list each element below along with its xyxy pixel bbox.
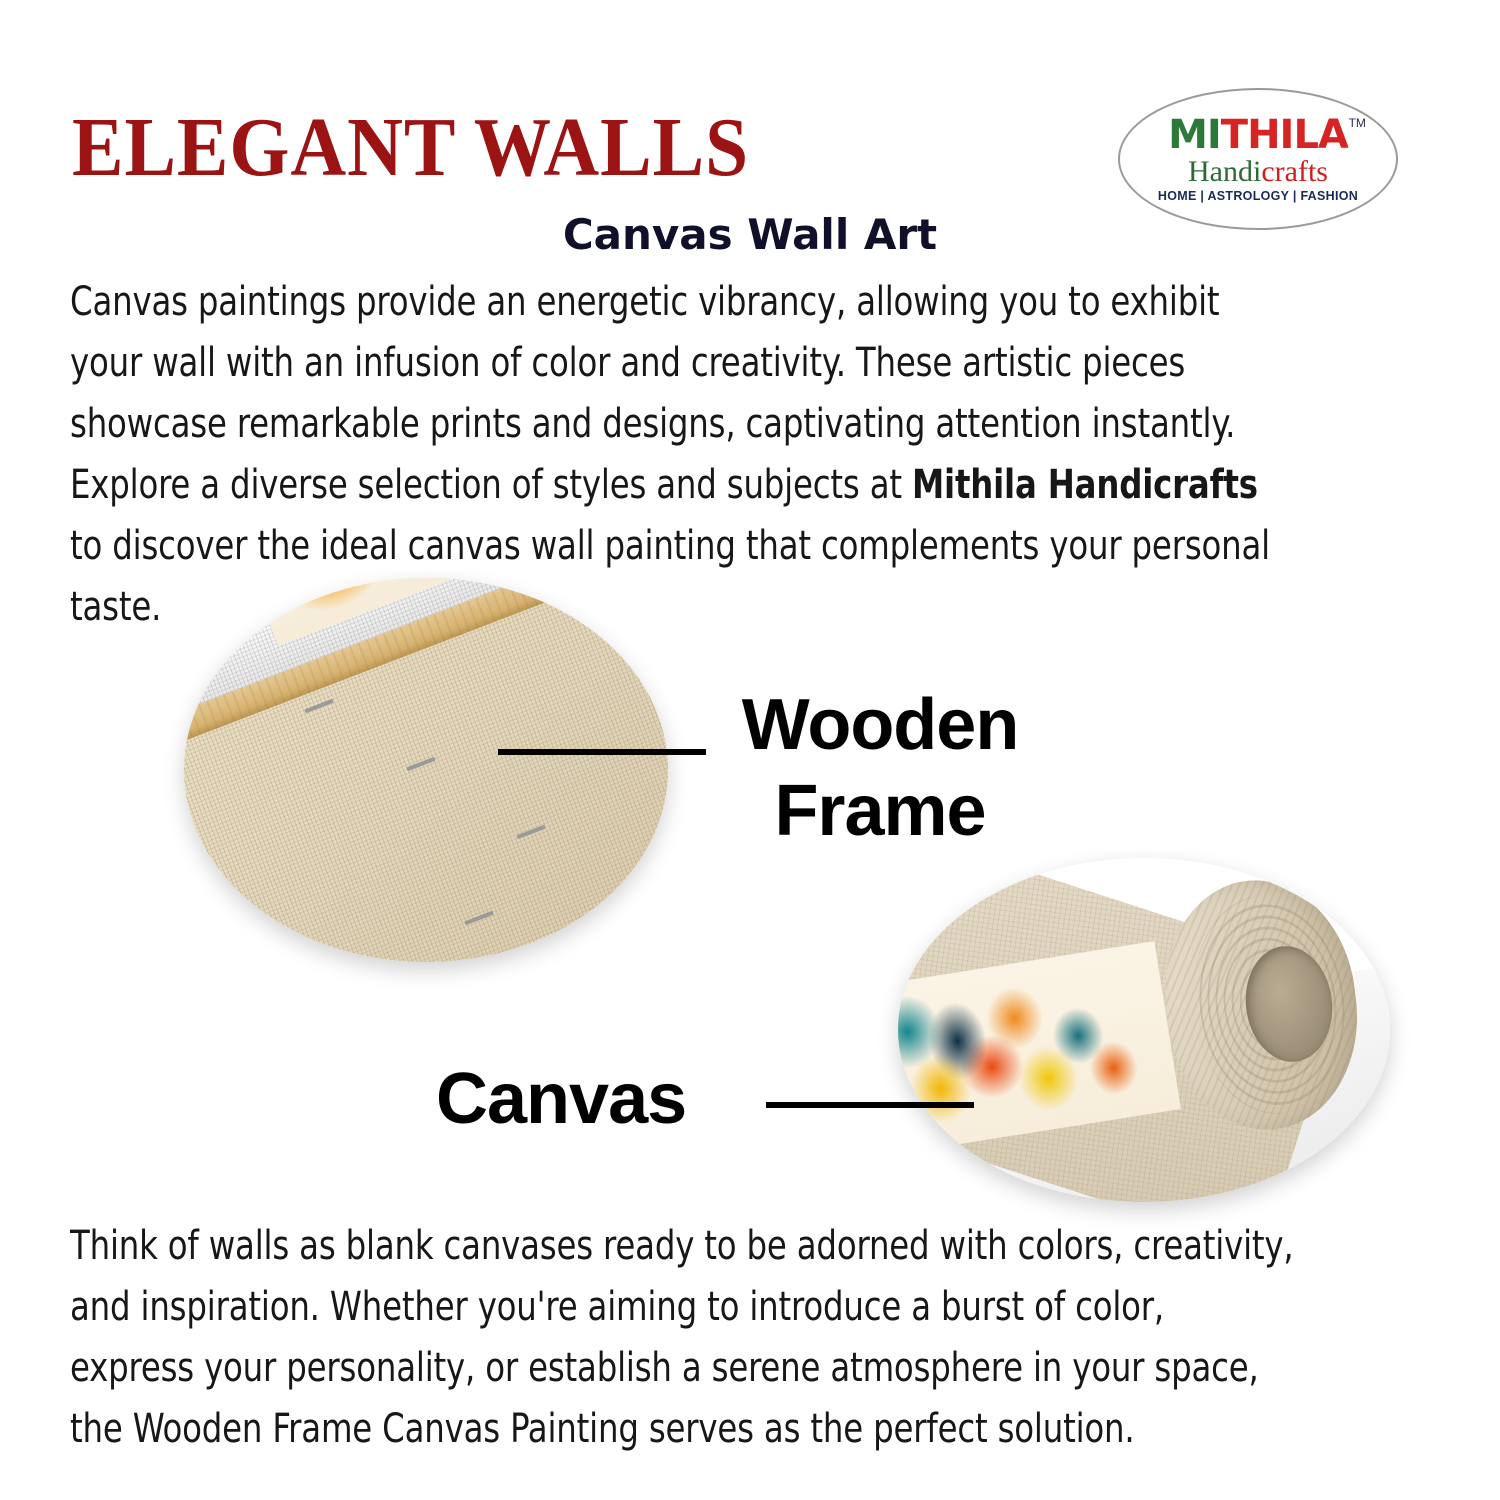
intro-paragraph-brand-emphasis: Mithila Handicrafts [912,462,1258,508]
logo-subtitle-green-part: Handi [1188,155,1261,188]
page-subheading: Canvas Wall Art [0,211,1500,259]
logo-subtitle: Handicrafts [1188,156,1328,188]
mithila-handicrafts-logo: MITHILA TM Handicrafts HOME | ASTROLOGY … [1118,88,1398,230]
logo-content: MITHILA TM Handicrafts HOME | ASTROLOGY … [1118,88,1398,230]
wooden-frame-detail-photo [184,578,668,962]
logo-tagline: HOME | ASTROLOGY | FASHION [1158,189,1358,203]
wooden-frame-scene [184,578,668,962]
outro-paragraph: Think of walls as blank canvases ready t… [70,1216,1294,1460]
canvas-roll-scene [898,858,1390,1202]
trademark-icon: TM [1349,103,1366,143]
callout-label-canvas: Canvas [436,1056,686,1142]
callout-label-wooden-frame: Wooden Frame [700,682,1060,854]
logo-brand-name-green-part: MI [1168,112,1221,158]
canvas-roll-photo [898,858,1390,1202]
wooden-frame-leader-line [498,749,706,755]
infographic-page: ELEGANT WALLS MITHILA TM Handicrafts HOM… [0,0,1500,1500]
logo-brand-name-red-part: THILA [1221,112,1348,158]
logo-brand-name: MITHILA TM [1168,115,1348,155]
canvas-leader-line [766,1102,974,1108]
page-title: ELEGANT WALLS [72,106,749,190]
logo-subtitle-red-part: crafts [1261,155,1328,188]
